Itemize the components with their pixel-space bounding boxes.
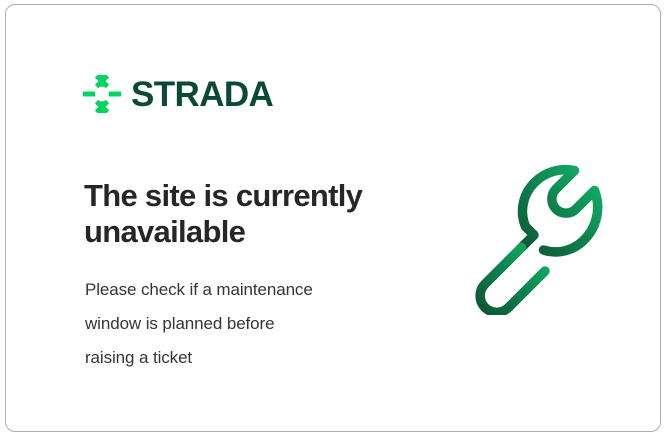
- description-line: Please check if a maintenance: [85, 273, 395, 307]
- maintenance-card: STRADA The site is currently unavailable…: [5, 4, 661, 432]
- wrench-icon: [461, 155, 621, 315]
- brand-wordmark: STRADA: [131, 77, 273, 112]
- description-line: window is planned before: [85, 307, 395, 341]
- maintenance-page: STRADA The site is currently unavailable…: [0, 0, 666, 436]
- brand-lockup: STRADA: [83, 75, 273, 113]
- page-title: The site is currently unavailable: [84, 178, 414, 251]
- description-line: raising a ticket: [85, 341, 395, 375]
- page-description: Please check if a maintenance window is …: [85, 273, 395, 375]
- strada-asterisk-icon: [83, 75, 121, 113]
